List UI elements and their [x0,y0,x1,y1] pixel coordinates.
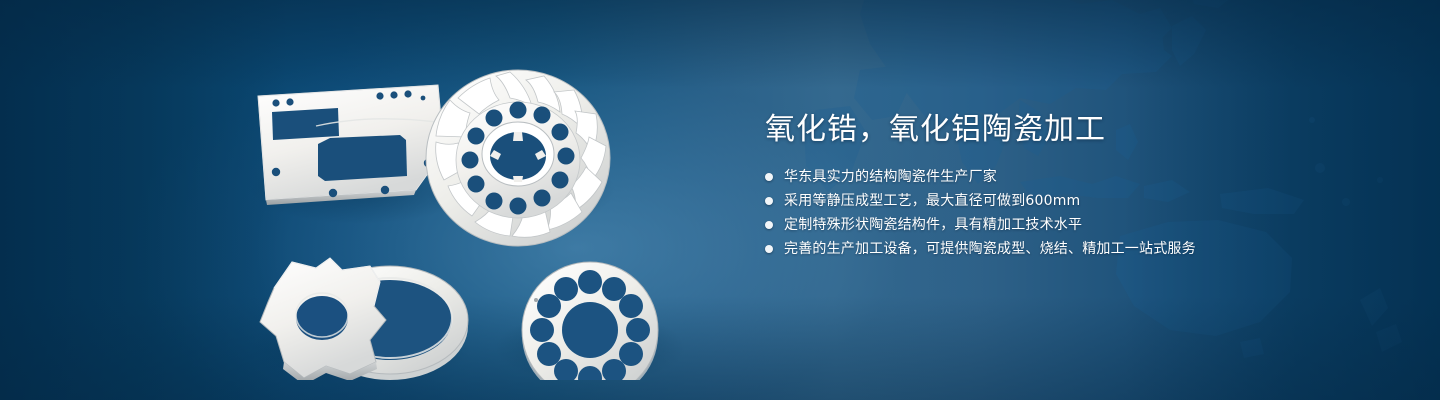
bullet-dot-icon [765,221,773,229]
list-item: 采用等静压成型工艺，最大直径可做到600mm [765,190,1385,212]
list-item-label: 定制特殊形状陶瓷结构件，具有精加工技术水平 [784,214,1082,236]
bullet-dot-icon [765,197,773,205]
ceramic-plate-part [258,85,444,205]
feature-list: 华东具实力的结构陶瓷件生产厂家 采用等静压成型工艺，最大直径可做到600mm 定… [765,166,1385,260]
list-item: 完善的生产加工设备，可提供陶瓷成型、烧结、精加工一站式服务 [765,238,1385,260]
page-title: 氧化锆，氧化铝陶瓷加工 [765,110,1385,150]
list-item-label: 完善的生产加工设备，可提供陶瓷成型、烧结、精加工一站式服务 [784,238,1196,260]
hero-banner: 氧化锆，氧化铝陶瓷加工 华东具实力的结构陶瓷件生产厂家 采用等静压成型工艺，最大… [0,0,1440,400]
ceramic-holed-ring-part [522,262,658,380]
list-item: 华东具实力的结构陶瓷件生产厂家 [765,166,1385,188]
ceramic-impeller-part [426,70,610,246]
list-item-label: 华东具实力的结构陶瓷件生产厂家 [784,166,997,188]
banner-copy: 氧化锆，氧化铝陶瓷加工 华东具实力的结构陶瓷件生产厂家 采用等静压成型工艺，最大… [765,110,1385,262]
list-item: 定制特殊形状陶瓷结构件，具有精加工技术水平 [765,214,1385,236]
list-item-label: 采用等静压成型工艺，最大直径可做到600mm [784,190,1080,212]
bullet-dot-icon [765,245,773,253]
ceramic-products-image [230,30,700,380]
bullet-dot-icon [765,173,773,181]
